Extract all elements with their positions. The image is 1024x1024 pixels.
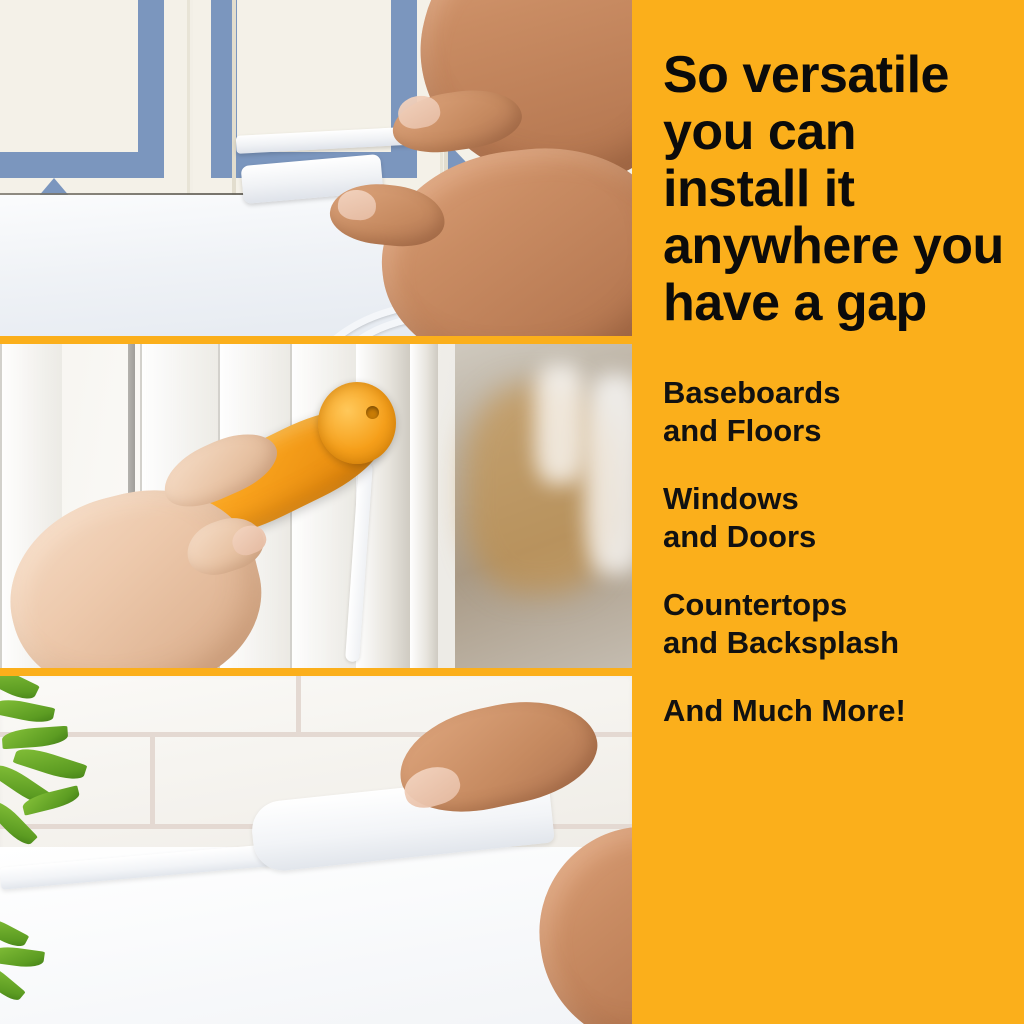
photo-window-frame-install	[0, 344, 632, 668]
product-infographic: So versatile you can install it anywhere…	[0, 0, 1024, 1024]
text-panel: So versatile you can install it anywhere…	[632, 0, 1024, 1024]
benefit-item-windows-and-doors: Windows and Doors	[663, 480, 1006, 556]
photo-divider	[0, 336, 632, 344]
photo-counter-backsplash-install	[0, 676, 632, 1024]
photo-divider	[0, 668, 632, 676]
tile	[0, 0, 190, 205]
photo-stack	[0, 0, 632, 1024]
benefit-list: Baseboards and Floors Windows and Doors …	[663, 374, 1006, 730]
benefit-item-countertops-and-backsplash: Countertops and Backsplash	[663, 586, 1006, 662]
tool-nozzle-hole	[366, 406, 379, 419]
benefit-item-and-much-more: And Much More!	[663, 692, 1006, 730]
benefit-item-baseboards-and-floors: Baseboards and Floors	[663, 374, 1006, 450]
tool-head	[318, 382, 396, 464]
window-glass	[455, 344, 632, 668]
photo-backsplash-countertop-install	[0, 0, 632, 336]
headline: So versatile you can install it anywhere…	[663, 47, 1006, 332]
